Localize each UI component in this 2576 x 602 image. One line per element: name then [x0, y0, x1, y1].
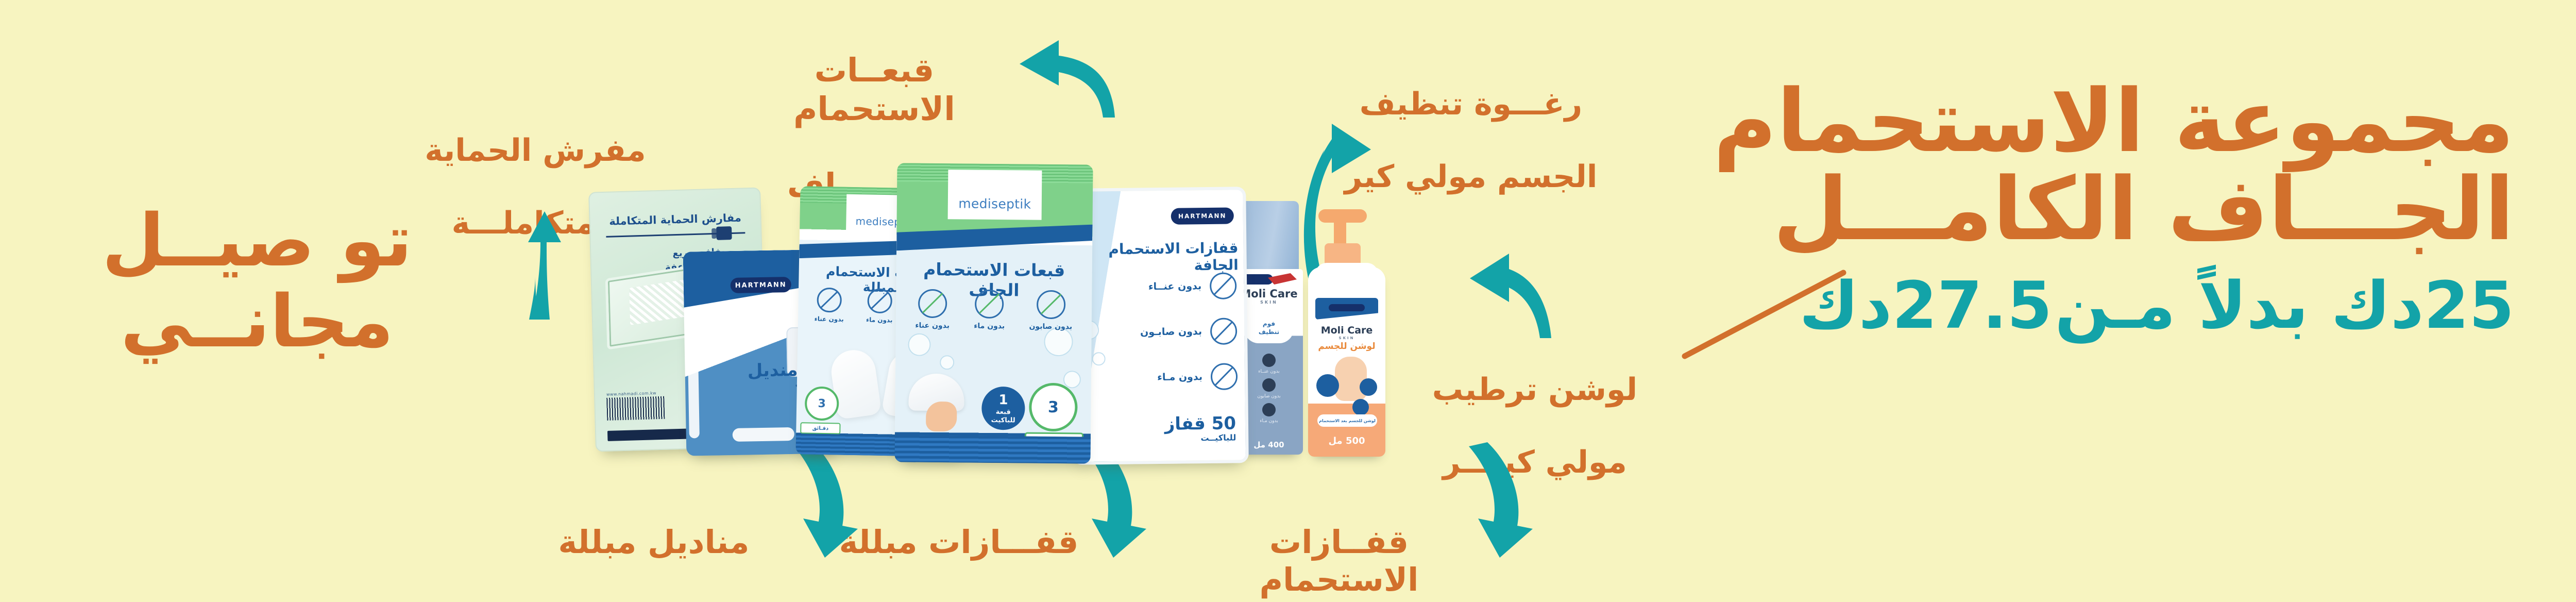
no-water-icon: [975, 290, 1004, 319]
caps-count-label1: قبعة: [996, 408, 1011, 417]
no-water-icon: [1211, 363, 1238, 390]
product-shower-caps-pack: mediseptik قبعات الاستحمام الجاف بدون صا…: [894, 163, 1093, 463]
feature-no-water: بدون ماء: [866, 288, 893, 324]
caps-count-value: 1: [998, 392, 1008, 409]
caps-timer-badge: 3: [1029, 383, 1078, 432]
dry-gloves-features: بدون عنــاء بدون صابـون بدون مـاء: [1097, 272, 1238, 410]
arrow-curve-left-icon: [1009, 21, 1117, 119]
product-group: مفارش الحماية المتكاملة جفاف سريع مساحة …: [577, 149, 1483, 469]
wet-gloves-timer-label: دقـائق: [800, 422, 840, 434]
wipes-count-unit: منديل: [747, 360, 798, 381]
foam-type-chip: فوم تنظيف: [1244, 313, 1294, 343]
callout-body-foam-line1: رغـــوة تنظيف: [1316, 86, 1625, 123]
no-effort-icon: [817, 288, 842, 313]
mat-pack-title: مفارش الحماية المتكاملة: [597, 211, 753, 228]
callout-wet-wipes-line2: مولي كيــــر: [515, 598, 793, 602]
feature-no-water: بدون ماء: [974, 290, 1005, 331]
headline-line2: الجـــاف الكامـــل: [1669, 165, 2514, 254]
no-soap-icon: [1036, 290, 1065, 319]
callout-dry-gloves: قفــازات الاستحمام الجـــــــاف: [1200, 486, 1478, 602]
no-effort-icon: [918, 289, 947, 318]
lotion-brand: Moli Care SKIN: [1308, 325, 1385, 340]
callout-wet-gloves: قفـــازات مبللة لتنظيف الجسم: [830, 486, 1088, 602]
dry-gloves-count-value: 50: [1211, 413, 1236, 433]
no-effort-icon: [1262, 354, 1276, 367]
lotion-title-ar: لوشن للجسم: [1308, 341, 1385, 352]
headline-line1: مجموعة الاستحمام: [1669, 77, 2514, 165]
no-effort-icon: [1210, 272, 1237, 299]
dry-gloves-title: قفازات الاستحمام الجافة: [1091, 239, 1239, 275]
callout-wet-gloves-line1: قفـــازات مبللة: [830, 523, 1088, 561]
callout-shower-caps-line1: قبعــات الاستحمام: [730, 52, 1019, 128]
callout-wet-gloves-line2: لتنظيف الجسم: [830, 598, 1088, 602]
lotion-sub-chip: لوشن للجسم بعد الاستحمام: [1317, 414, 1377, 427]
lotion-benefit-icon-2: [1360, 378, 1377, 396]
feature-no-water: بدون مـاء: [1098, 363, 1238, 391]
wipes-pack-flap: [687, 309, 700, 438]
hartmann-logo: HARTMANN: [730, 277, 791, 293]
lotion-benefit-icon-3: [1352, 399, 1369, 415]
product-dry-gloves-pack: HARTMANN قفازات الاستحمام الجافة بدون عن…: [1070, 187, 1249, 465]
no-soap-icon: [1262, 378, 1276, 392]
free-delivery-line1: تو صيــل: [77, 201, 437, 282]
no-water-icon: [867, 288, 892, 313]
price-row: 25دك بدلاً مـن 27.5دك: [1669, 272, 2514, 340]
feature-no-soap: بدون صابون: [1029, 290, 1072, 331]
feature-no-effort: بدون عنــاء: [1097, 272, 1237, 300]
lotion-benefit-icon-1: [1316, 374, 1339, 397]
lotion-bottle-shoulder: [1315, 263, 1378, 286]
mat-pack-footer-bar: [607, 428, 690, 441]
feature-no-effort: بدون عناء: [915, 289, 950, 330]
lotion-volume: 500 مل: [1308, 436, 1385, 446]
price-old: 27.5دك: [1799, 267, 2052, 343]
caps-features: بدون صابون بدون ماء بدون عناء: [903, 289, 1085, 331]
free-delivery-text: تو صيــل مجانــي: [77, 201, 437, 363]
face-shape: [926, 402, 957, 432]
promo-banner: تو صيــل مجانــي مفرش الحماية المتكامل‍ـ…: [0, 0, 2576, 602]
caps-wave-band: [896, 223, 1092, 252]
feature-no-effort: بدون عناء: [815, 288, 844, 323]
callout-wet-wipes: مناديل مبللة مولي كيــــر: [515, 486, 793, 602]
mat-pack-url: www.nahmadi.com.kw: [606, 391, 656, 397]
dry-gloves-count-unit: قفاز: [1165, 413, 1206, 434]
foam-bottle-cap: [1239, 201, 1299, 277]
person-with-cap-illustration: [908, 374, 971, 436]
callout-dry-gloves-line1: قفــازات الاستحمام: [1200, 523, 1478, 598]
caps-bottom-stripes: [894, 435, 1090, 463]
product-lotion-bottle: Moli Care SKIN لوشن للجسم لوشن للجسم بعد…: [1308, 209, 1385, 457]
mediseptik-logo: mediseptik: [948, 170, 1042, 220]
no-water-icon: [1262, 403, 1276, 416]
price-new: 25دك بدلاً مـن: [2055, 267, 2514, 343]
caps-count-label2: للباكيت: [991, 416, 1015, 425]
headline-block: مجموعة الاستحمام الجـــاف الكامـــل 25دك…: [1669, 77, 2514, 340]
body-illustration: [1335, 357, 1367, 401]
feature-no-soap: بدون صابـون: [1098, 317, 1238, 346]
dry-gloves-count-sub: للباكيــت: [1165, 433, 1236, 443]
caps-count-badge: 1 قبعة للباكيت: [981, 387, 1025, 430]
callout-wet-wipes-line1: مناديل مبللة: [515, 523, 793, 561]
no-soap-icon: [1210, 317, 1238, 345]
mat-pack-layers-icon: [716, 226, 732, 240]
free-delivery-line2: مجانــي: [77, 282, 437, 363]
dry-gloves-count: 50 قفاز للباكيــت: [1165, 414, 1236, 443]
hartmann-logo: HARTMANN: [1171, 207, 1234, 224]
mediseptik-logo-text: mediseptik: [958, 196, 1031, 220]
barcode: [606, 396, 665, 421]
wipes-pack-tab: [733, 427, 794, 442]
